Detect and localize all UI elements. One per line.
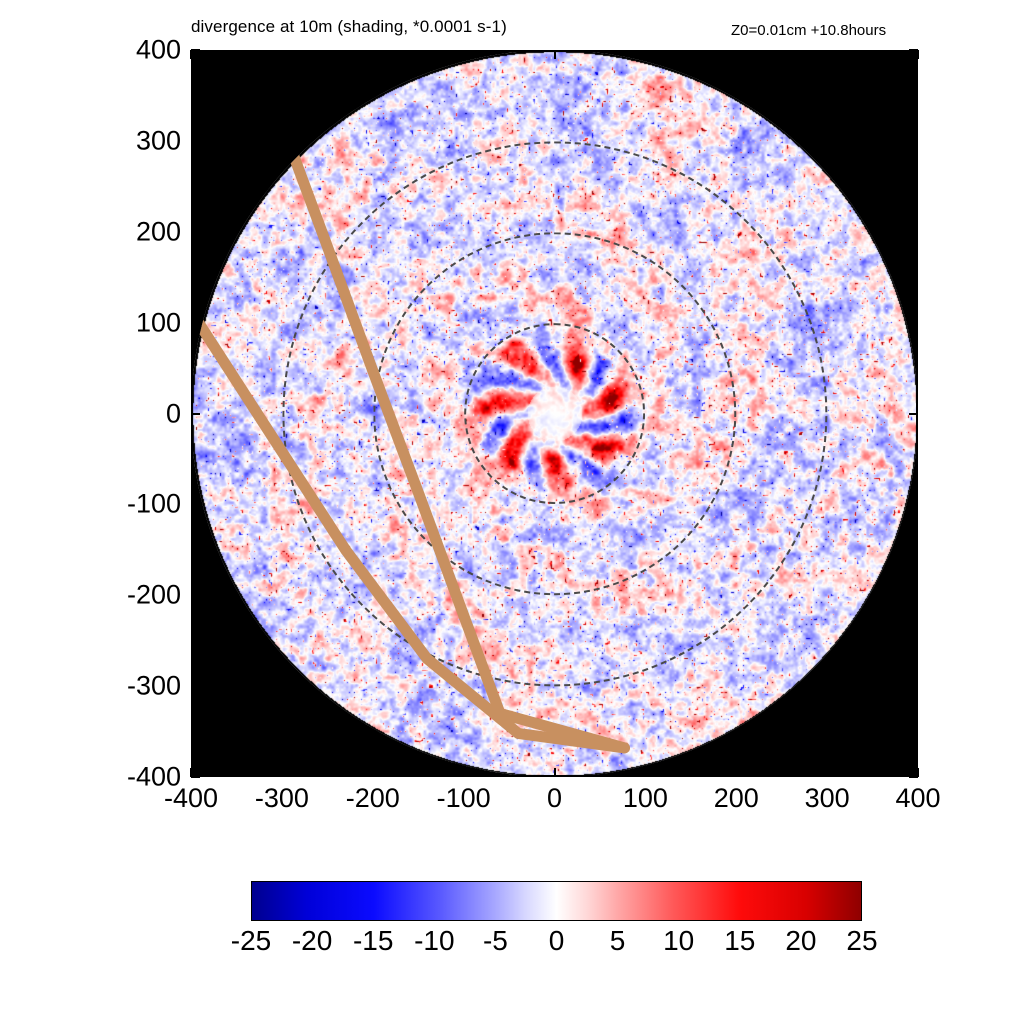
y-tick-label--300: -300	[127, 671, 181, 702]
x-tick-top-100	[644, 50, 646, 59]
y-tick-left-400	[191, 49, 200, 51]
colorbar-label--5: -5	[483, 925, 508, 957]
colorbar-label--10: -10	[414, 925, 454, 957]
y-tick-right-400	[909, 49, 918, 51]
x-tick-top--100	[463, 50, 465, 59]
x-tick-label-100: 100	[623, 783, 668, 814]
y-tick-label-0: 0	[166, 398, 181, 429]
y-tick-label-100: 100	[136, 307, 181, 338]
x-tick-top-400	[917, 50, 919, 59]
x-tick-label-300: 300	[805, 783, 850, 814]
y-tick-label-400: 400	[136, 35, 181, 66]
y-tick-left-300	[191, 140, 200, 142]
x-tick-top-0	[554, 50, 556, 59]
chart-title: divergence at 10m (shading, *0.0001 s-1)	[191, 17, 507, 37]
chart-subtitle: Z0=0.01cm +10.8hours	[731, 22, 886, 39]
x-tick-bottom-300	[826, 768, 828, 777]
x-tick-label--200: -200	[346, 783, 400, 814]
colorbar-label-0: 0	[549, 925, 565, 957]
coastline-overlay	[191, 50, 918, 777]
colorbar-label-25: 25	[846, 925, 877, 957]
y-tick-label--100: -100	[127, 489, 181, 520]
x-tick-label--300: -300	[255, 783, 309, 814]
colorbar-label--25: -25	[231, 925, 271, 957]
x-tick-bottom--300	[281, 768, 283, 777]
x-tick-bottom-0	[554, 768, 556, 777]
y-tick-label-200: 200	[136, 216, 181, 247]
x-tick-bottom-200	[735, 768, 737, 777]
y-tick-right--200	[909, 594, 918, 596]
x-tick-top--200	[372, 50, 374, 59]
colorbar-label-10: 10	[663, 925, 694, 957]
y-tick-label-300: 300	[136, 125, 181, 156]
colorbar-label-20: 20	[785, 925, 816, 957]
colorbar-label--15: -15	[353, 925, 393, 957]
x-tick-label-0: 0	[547, 783, 562, 814]
x-tick-top--400	[190, 50, 192, 59]
plot-area	[191, 50, 918, 777]
y-tick-right--100	[909, 503, 918, 505]
y-tick-left-100	[191, 322, 200, 324]
x-tick-bottom--100	[463, 768, 465, 777]
coastline-west-coast	[191, 311, 625, 748]
x-tick-top-300	[826, 50, 828, 59]
colorbar-label-15: 15	[724, 925, 755, 957]
y-tick-left-0	[191, 413, 200, 415]
x-tick-label--100: -100	[437, 783, 491, 814]
x-tick-bottom-100	[644, 768, 646, 777]
y-tick-left--400	[191, 776, 200, 778]
colorbar-label-5: 5	[610, 925, 626, 957]
y-tick-right-100	[909, 322, 918, 324]
x-tick-top--300	[281, 50, 283, 59]
y-tick-left--100	[191, 503, 200, 505]
x-tick-label-200: 200	[714, 783, 759, 814]
y-tick-label--400: -400	[127, 762, 181, 793]
coastline-north-east-coast	[288, 141, 624, 748]
y-tick-left--300	[191, 685, 200, 687]
colorbar-label--20: -20	[292, 925, 332, 957]
y-tick-right--300	[909, 685, 918, 687]
y-tick-label--200: -200	[127, 580, 181, 611]
x-tick-bottom--200	[372, 768, 374, 777]
y-tick-left--200	[191, 594, 200, 596]
y-tick-right-300	[909, 140, 918, 142]
y-tick-right--400	[909, 776, 918, 778]
radar-domain-circle	[191, 50, 918, 777]
x-tick-label-400: 400	[895, 783, 940, 814]
y-tick-right-0	[909, 413, 918, 415]
x-tick-top-200	[735, 50, 737, 59]
figure-canvas: divergence at 10m (shading, *0.0001 s-1)…	[0, 0, 1024, 1024]
y-tick-right-200	[909, 231, 918, 233]
colorbar	[251, 881, 862, 921]
y-tick-left-200	[191, 231, 200, 233]
